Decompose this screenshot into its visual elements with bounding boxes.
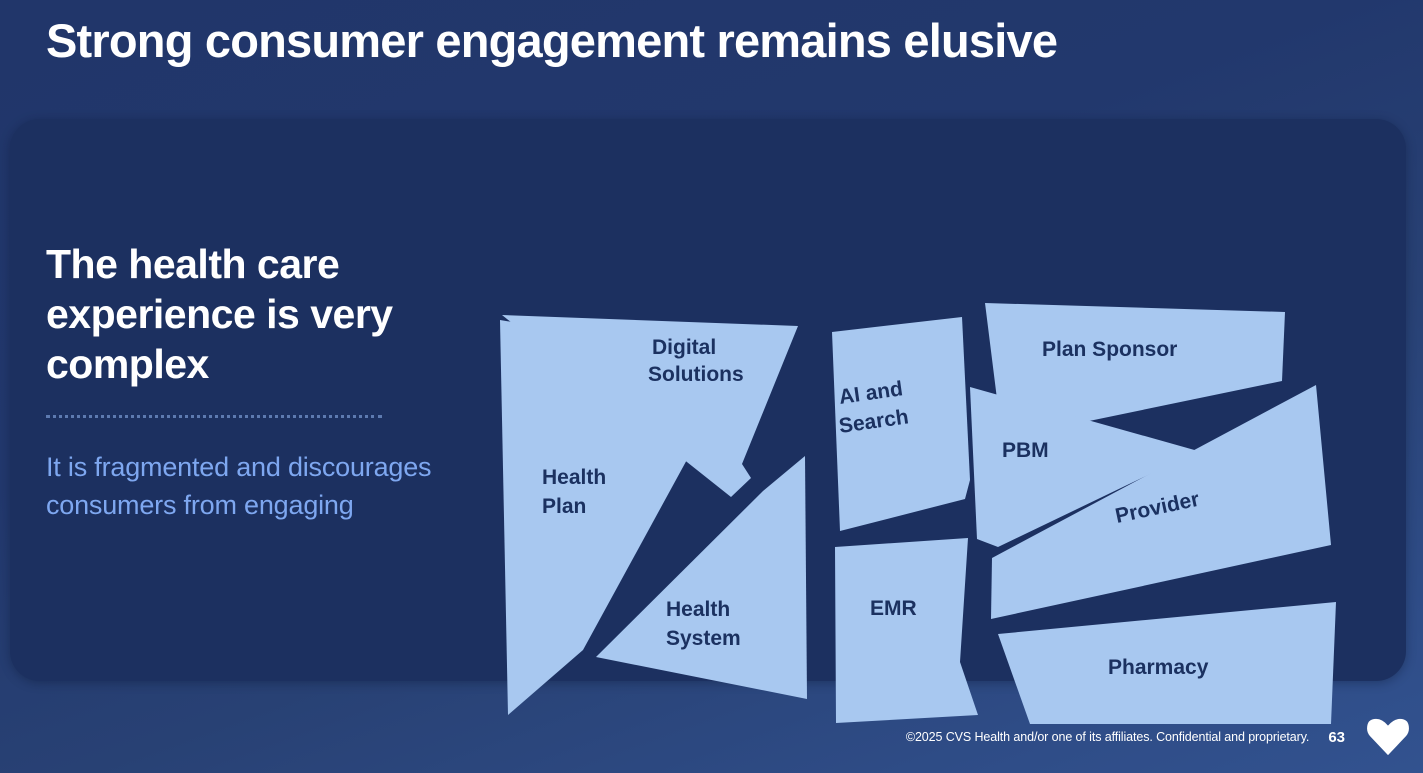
health-system-label-line1: Health (666, 598, 730, 621)
pbm-label: PBM (1002, 439, 1049, 462)
content-card: The health care experience is very compl… (10, 119, 1406, 681)
footer-copyright: ©2025 CVS Health and/or one of its affil… (906, 730, 1309, 744)
slide-root: Strong consumer engagement remains elusi… (0, 0, 1423, 773)
emr-shape (835, 538, 978, 723)
puzzle-piece-pharmacy[interactable]: Pharmacy (998, 602, 1336, 724)
dotted-divider (46, 415, 382, 418)
puzzle-piece-ai-and-search[interactable]: AI and Search (832, 317, 970, 531)
page-number: 63 (1328, 729, 1345, 746)
digital-solutions-label-line2: Solutions (648, 363, 744, 386)
headline: The health care experience is very compl… (46, 239, 446, 389)
subtext: It is fragmented and discourages consume… (46, 448, 446, 525)
cvs-heart-icon (1367, 717, 1409, 757)
health-plan-label-line2: Plan (542, 495, 586, 518)
digital-solutions-label-line1: Digital (652, 336, 716, 359)
health-plan-label-line1: Health (542, 466, 606, 489)
pharmacy-label: Pharmacy (1108, 656, 1209, 679)
puzzle-diagram-svg: Health Plan Digital Solutions Health Sys… (480, 179, 1380, 749)
footer: ©2025 CVS Health and/or one of its affil… (906, 717, 1409, 757)
health-system-label-line2: System (666, 627, 741, 650)
plan-sponsor-label: Plan Sponsor (1042, 338, 1177, 361)
puzzle-piece-emr[interactable]: EMR (835, 538, 978, 723)
page-title: Strong consumer engagement remains elusi… (46, 12, 1386, 71)
emr-label: EMR (870, 597, 917, 620)
puzzle-diagram: Health Plan Digital Solutions Health Sys… (480, 179, 1380, 749)
left-text-block: The health care experience is very compl… (46, 239, 446, 525)
